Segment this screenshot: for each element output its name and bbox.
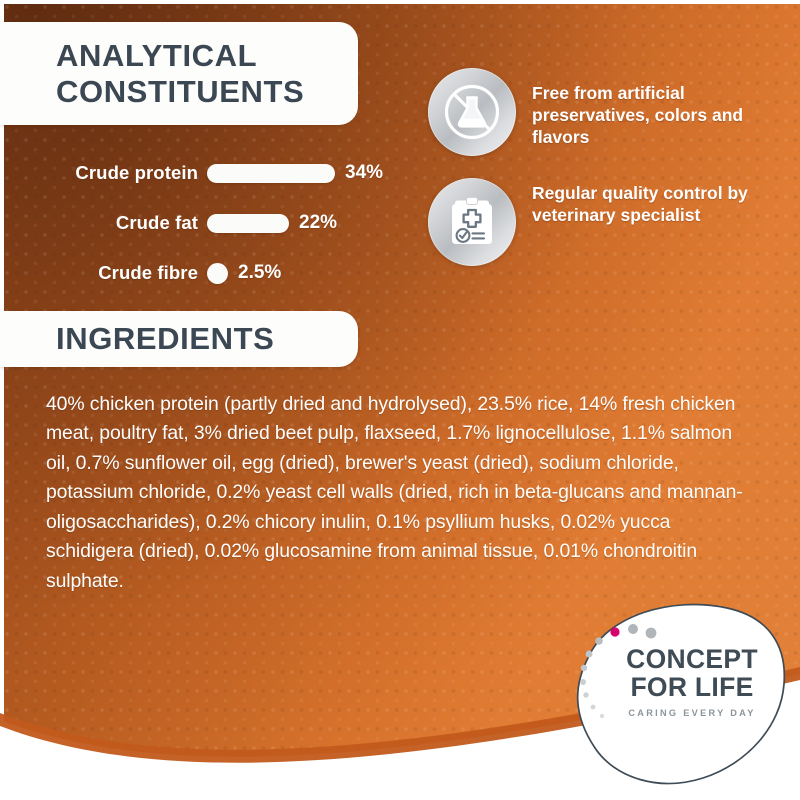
logo-dot-accent (610, 627, 619, 636)
constituent-label-crude-fibre: Crude fibre (0, 262, 207, 284)
constituent-bar-crude-fibre (207, 263, 228, 284)
constituent-row-crude-protein: Crude protein 34% (0, 148, 420, 198)
analytical-constituents-heading-plaque: ANALYTICAL CONSTITUENTS (0, 22, 358, 125)
analytical-title-line-1: ANALYTICAL (56, 38, 304, 74)
logo-text: CONCEPT FOR LIFE CARING EVERY DAY (601, 646, 783, 718)
logo-tagline: CARING EVERY DAY (601, 708, 783, 718)
clipboard-medical-check-badge (428, 178, 516, 266)
feature-text-free-from-artificial: Free from artificial preservatives, colo… (516, 68, 780, 148)
constituent-label-crude-fat: Crude fat (0, 212, 207, 234)
feature-text-quality-control: Regular quality control by veterinary sp… (516, 178, 780, 226)
ingredients-body-text: 40% chicken protein (partly dried and hy… (46, 390, 758, 596)
feature-list: Free from artificial preservatives, colo… (428, 68, 780, 288)
constituent-bar-crude-fat (207, 214, 289, 233)
analytical-constituents-title: ANALYTICAL CONSTITUENTS (56, 38, 304, 110)
no-flask-icon (441, 81, 503, 143)
logo-line-1: CONCEPT (601, 646, 783, 674)
logo-line-2: FOR LIFE (601, 674, 783, 702)
constituent-value-crude-fat: 22% (289, 212, 337, 234)
clipboard-medical-check-icon (443, 191, 501, 253)
feature-item-quality-control: Regular quality control by veterinary sp… (428, 178, 780, 266)
no-flask-badge (428, 68, 516, 156)
feature-item-free-from-artificial: Free from artificial preservatives, colo… (428, 68, 780, 156)
constituent-value-crude-protein: 34% (335, 162, 383, 184)
analytical-title-line-2: CONSTITUENTS (56, 74, 304, 110)
constituent-bar-crude-protein (207, 164, 335, 183)
analytical-constituents-chart: Crude protein 34% Crude fat 22% Crude fi… (0, 148, 420, 298)
product-label-panel: ANALYTICAL CONSTITUENTS Crude protein 34… (0, 0, 800, 800)
constituent-row-crude-fat: Crude fat 22% (0, 198, 420, 248)
constituent-row-crude-fibre: Crude fibre 2.5% (0, 248, 420, 298)
constituent-label-crude-protein: Crude protein (0, 162, 207, 184)
constituent-value-crude-fibre: 2.5% (228, 262, 281, 284)
ingredients-heading-plaque: INGREDIENTS (0, 311, 358, 367)
ingredients-title: INGREDIENTS (56, 321, 274, 357)
brand-logo: CONCEPT FOR LIFE CARING EVERY DAY (543, 602, 793, 788)
